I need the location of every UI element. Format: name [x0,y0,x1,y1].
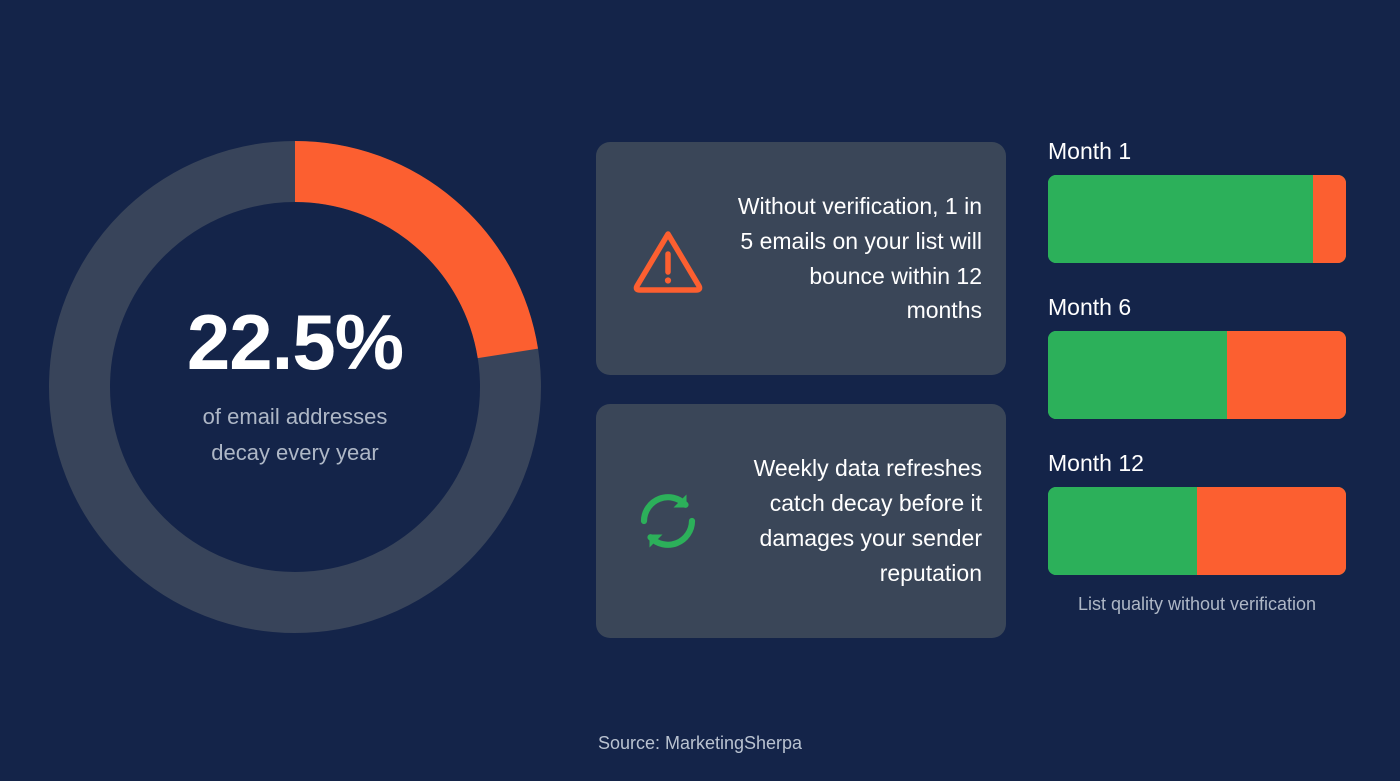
bar-group-month-12: Month 12 [1048,450,1346,575]
bar-segment-bad-month-1 [1313,175,1346,263]
warning-triangle-glyph [629,220,707,298]
source-attribution: Source: MarketingSherpa [0,733,1400,754]
bar-track-month-12 [1048,487,1346,575]
bar-segment-good-month-1 [1048,175,1313,263]
bar-label-month-6: Month 6 [1048,294,1346,321]
donut-caption: of email addresses decay every year [203,399,388,470]
infographic-canvas: 22.5% of email addresses decay every yea… [0,0,1400,781]
bar-label-month-1: Month 1 [1048,138,1346,165]
donut-caption-line-2: decay every year [203,435,388,471]
refresh-card-text: Weekly data refreshes catch decay before… [736,451,982,591]
bar-segment-good-month-6 [1048,331,1227,419]
bar-chart-caption: List quality without verification [1048,594,1346,615]
bar-segment-bad-month-6 [1227,331,1346,419]
warning-triangle-icon [626,217,710,301]
donut-value-text: 22.5% [187,303,403,381]
donut-caption-line-1: of email addresses [203,399,388,435]
refresh-info-card: Weekly data refreshes catch decay before… [596,404,1006,638]
bar-track-month-6 [1048,331,1346,419]
list-quality-bar-chart: Month 1 Month 6 Month 12 List quality wi… [1048,138,1346,615]
refresh-cycle-icon [626,479,710,563]
refresh-cycle-glyph [629,482,707,560]
bar-segment-bad-month-12 [1197,487,1346,575]
donut-center-labels: 22.5% of email addresses decay every yea… [49,141,541,633]
warning-card-text: Without verification, 1 in 5 emails on y… [736,189,982,329]
bar-label-month-12: Month 12 [1048,450,1346,477]
bar-segment-good-month-12 [1048,487,1197,575]
bar-group-month-1: Month 1 [1048,138,1346,263]
bar-group-month-6: Month 6 [1048,294,1346,419]
warning-info-card: Without verification, 1 in 5 emails on y… [596,142,1006,375]
bar-track-month-1 [1048,175,1346,263]
email-decay-donut-chart: 22.5% of email addresses decay every yea… [49,141,541,633]
